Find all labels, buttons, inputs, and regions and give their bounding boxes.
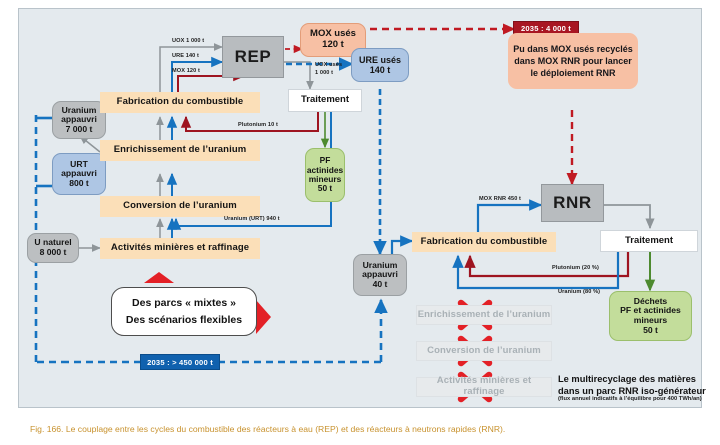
pill-label: U naturel 8 000 t [34,238,71,257]
rnr-section-title: Le multirecyclage des matières dans un p… [558,374,708,398]
treatment-label: Traitement [301,95,349,106]
process-fabrication-du-combustible-rnr[interactable]: Fabrication du combustible [412,232,556,252]
process-conversion-disabled: Conversion de l’uranium [416,341,552,361]
reactor-label: REP [235,47,272,66]
process-label: Enrichissement de l’uranium [114,145,247,156]
process-label: Conversion de l’uranium [427,346,541,357]
pill-ure-uses-140[interactable]: URE usés 140 t [351,48,409,82]
pill-label: Déchets PF et actinides mineurs 50 t [620,297,681,336]
process-conversion-de-luranium[interactable]: Conversion de l’uranium [100,196,260,217]
pill-u-naturel-8000[interactable]: U naturel 8 000 t [27,233,79,263]
scenario-line-1: Des parcs « mixtes » [132,297,236,309]
reactor-rnr[interactable]: RNR [541,184,604,222]
pill-label: MOX usés 120 t [310,29,356,50]
flow-label-uox-uses: UOX usés 1 000 t [315,62,342,77]
pill-label: PF actinides mineurs 50 t [307,156,343,194]
process-activites-minieres-et-raffinage[interactable]: Activités minières et raffinage [100,238,260,259]
pill-urt-appauvri-800[interactable]: URT appauvri 800 t [52,153,106,195]
process-activites-minieres-disabled: Activités minières et raffinage [416,377,552,397]
flow-label-uranium-urt-940: Uranium (URT) 940 t [224,216,280,222]
badge-label: 2035 : > 450 000 t [147,358,213,367]
process-label: Activités minières et raffinage [111,243,249,254]
flow-label-plutonium-20: Plutonium (20 %) [552,265,599,271]
flow-label-plutonium-10: Plutonium 10 t [238,122,278,128]
flow-label-mox-rnr-450: MOX RNR 450 t [479,196,521,202]
pill-label: Uranium appauvri 40 t [362,261,398,290]
pill-uranium-appauvri-40[interactable]: Uranium appauvri 40 t [353,254,407,296]
scenario-line-2: Des scénarios flexibles [126,314,242,326]
process-label: Conversion de l’uranium [123,201,237,212]
process-label: Enrichissement de l’uranium [418,310,551,321]
treatment-rnr[interactable]: Traitement [600,230,698,252]
figure-caption: Fig. 166. Le couplage entre les cycles d… [30,424,690,434]
treatment-label: Traitement [625,236,673,247]
pill-dechets-pf-actinides-50[interactable]: Déchets PF et actinides mineurs 50 t [609,291,692,341]
reactor-rep[interactable]: REP [222,36,284,78]
pill-uranium-appauvri-7000[interactable]: Uranium appauvri 7 000 t [52,101,106,139]
reactor-label: RNR [553,193,592,212]
process-fabrication-du-combustible[interactable]: Fabrication du combustible [100,92,260,113]
flow-label-ure-in: URE 140 t [172,53,199,59]
pill-pf-actinides-mineurs-50[interactable]: PF actinides mineurs 50 t [305,148,345,202]
flow-label-mox-in: MOX 120 t [172,68,200,74]
rnr-section-subtitle: (flux annuel indicatifs à l’équilibre po… [558,396,716,402]
callout-text: Pu dans MOX usés recyclés dans MOX RNR p… [513,43,633,79]
pill-label: Uranium appauvri 7 000 t [61,106,97,135]
callout-pu-mox-rnr[interactable]: Pu dans MOX usés recyclés dans MOX RNR p… [508,33,638,89]
scenario-box[interactable]: Des parcs « mixtes » Des scénarios flexi… [111,287,257,336]
treatment-rep[interactable]: Traitement [288,89,362,112]
process-label: Activités minières et raffinage [417,376,551,397]
flow-label-uox-in: UOX 1 000 t [172,38,204,44]
process-label: Fabrication du combustible [117,97,244,108]
process-enrichissement-disabled: Enrichissement de l’uranium [416,305,552,325]
figure-root: Uranium appauvri 7 000 t URT appauvri 80… [0,0,720,445]
badge-label: 2035 : 4 000 t [521,24,571,33]
process-enrichissement-de-luranium[interactable]: Enrichissement de l’uranium [100,140,260,161]
flow-label-uranium-80: Uranium (80 %) [558,289,600,295]
process-label: Fabrication du combustible [421,237,548,248]
badge-2035-450000t[interactable]: 2035 : > 450 000 t [140,354,220,370]
pill-label: URT appauvri 800 t [61,160,97,189]
pill-label: URE usés 140 t [359,55,401,75]
